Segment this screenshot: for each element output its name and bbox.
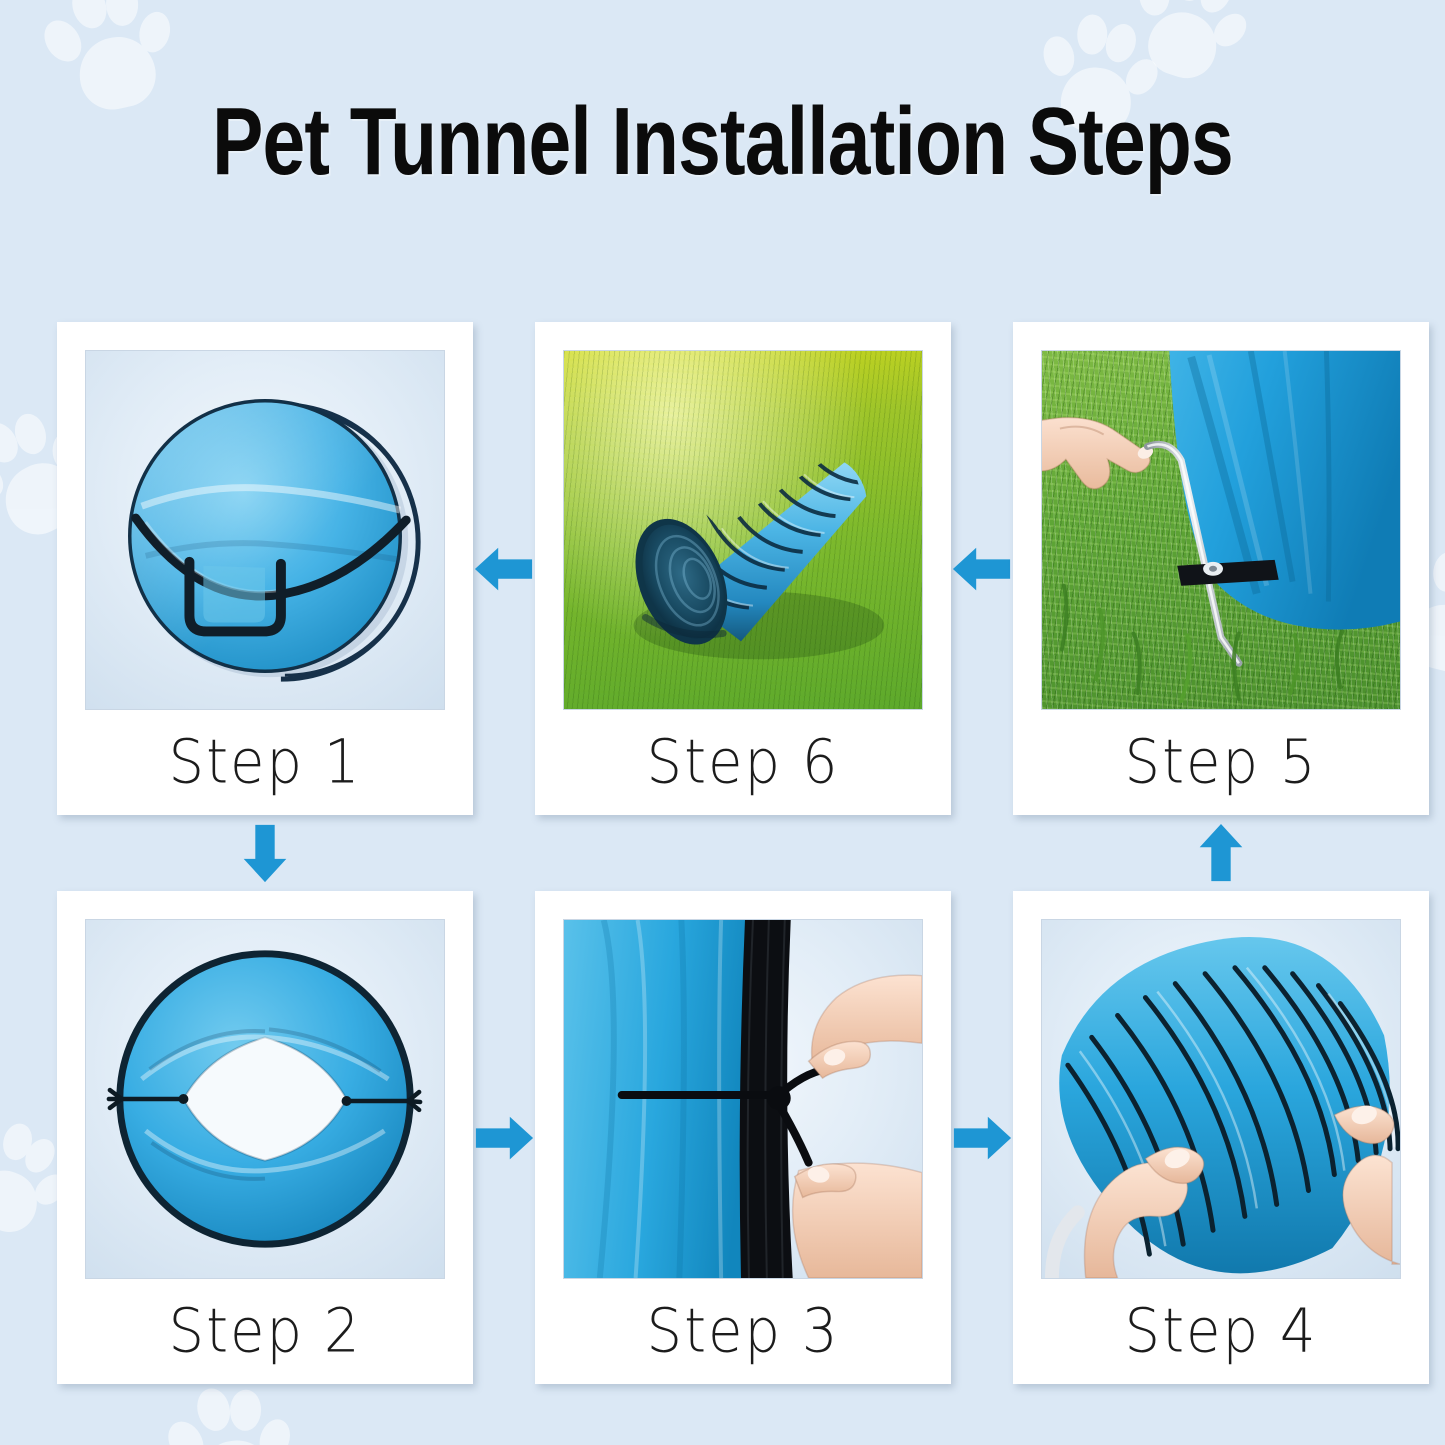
paw-pad <box>20 1134 61 1178</box>
arrow-cell-row1-gap2 <box>951 322 1013 815</box>
arrow-cell-col3-gap <box>1013 815 1429 891</box>
open-tunnel-ring-illustration <box>86 920 444 1278</box>
paw-pad <box>255 1415 295 1445</box>
step-4-photo <box>1041 919 1401 1279</box>
step-5-photo <box>1041 350 1401 710</box>
paw-pad <box>193 1385 234 1434</box>
paw-pad <box>1101 20 1140 66</box>
step-6-photo <box>563 350 923 710</box>
paw-pad <box>1195 0 1238 18</box>
step-1-photo <box>85 350 445 710</box>
paw-pad <box>135 8 174 56</box>
arrow-cell-row2-gap2 <box>951 891 1013 1384</box>
step-5-label: Step 5 <box>1041 706 1401 819</box>
paw-pad <box>1431 550 1445 594</box>
arrow-left-icon <box>951 538 1013 600</box>
arrow-right-icon <box>473 1107 535 1169</box>
paw-pad <box>0 417 25 469</box>
arrow-down-icon <box>234 822 296 884</box>
arrow-cell-row2-gap1 <box>473 891 535 1384</box>
paw-pad <box>37 14 89 69</box>
paw-pad <box>66 0 111 33</box>
step-card-step-1[interactable]: Step 1 <box>57 322 473 815</box>
paw-pad <box>0 1120 35 1163</box>
step-2-label: Step 2 <box>85 1275 445 1388</box>
assembled-tunnel-on-grass-illustration <box>564 351 922 709</box>
steps-grid: Step 1 <box>57 322 1392 1384</box>
paw-pad <box>1172 0 1209 4</box>
step-card-step-2[interactable]: Step 2 <box>57 891 473 1384</box>
tying-cord-illustration <box>564 920 922 1278</box>
step-3-photo <box>563 919 923 1279</box>
step-card-step-4[interactable]: Step 4 <box>1013 891 1429 1384</box>
paw-pad <box>161 1415 210 1445</box>
paw-print-icon <box>1115 0 1266 98</box>
stretch-accordion-illustration <box>1042 920 1400 1278</box>
paw-pad <box>1208 8 1253 53</box>
paw-pad <box>1140 4 1225 86</box>
step-card-step-6[interactable]: Step 6 <box>535 322 951 815</box>
paw-pad <box>0 455 10 507</box>
paw-pad <box>1040 33 1079 79</box>
arrow-cell-col1-gap <box>57 815 473 891</box>
step-card-step-5[interactable]: Step 5 <box>1013 322 1429 815</box>
ground-stake-illustration <box>1042 351 1400 709</box>
arrow-up-icon <box>1190 822 1252 884</box>
paw-pad <box>10 410 50 458</box>
paw-pad <box>229 1389 261 1431</box>
step-card-step-3[interactable]: Step 3 <box>535 891 951 1384</box>
page-title: Pet Tunnel Installation Steps <box>145 92 1301 193</box>
arrow-right-icon <box>951 1107 1013 1169</box>
step-6-label: Step 6 <box>563 706 923 819</box>
folded-tunnel-disc-illustration <box>86 351 444 709</box>
paw-pad <box>1138 0 1170 17</box>
arrow-cell-row1-gap1 <box>473 322 535 815</box>
step-3-label: Step 3 <box>563 1275 923 1388</box>
paw-pad <box>1077 14 1108 55</box>
step-4-label: Step 4 <box>1041 1275 1401 1388</box>
step-2-photo <box>85 919 445 1279</box>
paw-pad <box>105 0 138 27</box>
arrow-left-icon <box>473 538 535 600</box>
paw-pad <box>194 1436 277 1445</box>
step-1-label: Step 1 <box>85 706 445 819</box>
paw-pad <box>0 1161 46 1240</box>
